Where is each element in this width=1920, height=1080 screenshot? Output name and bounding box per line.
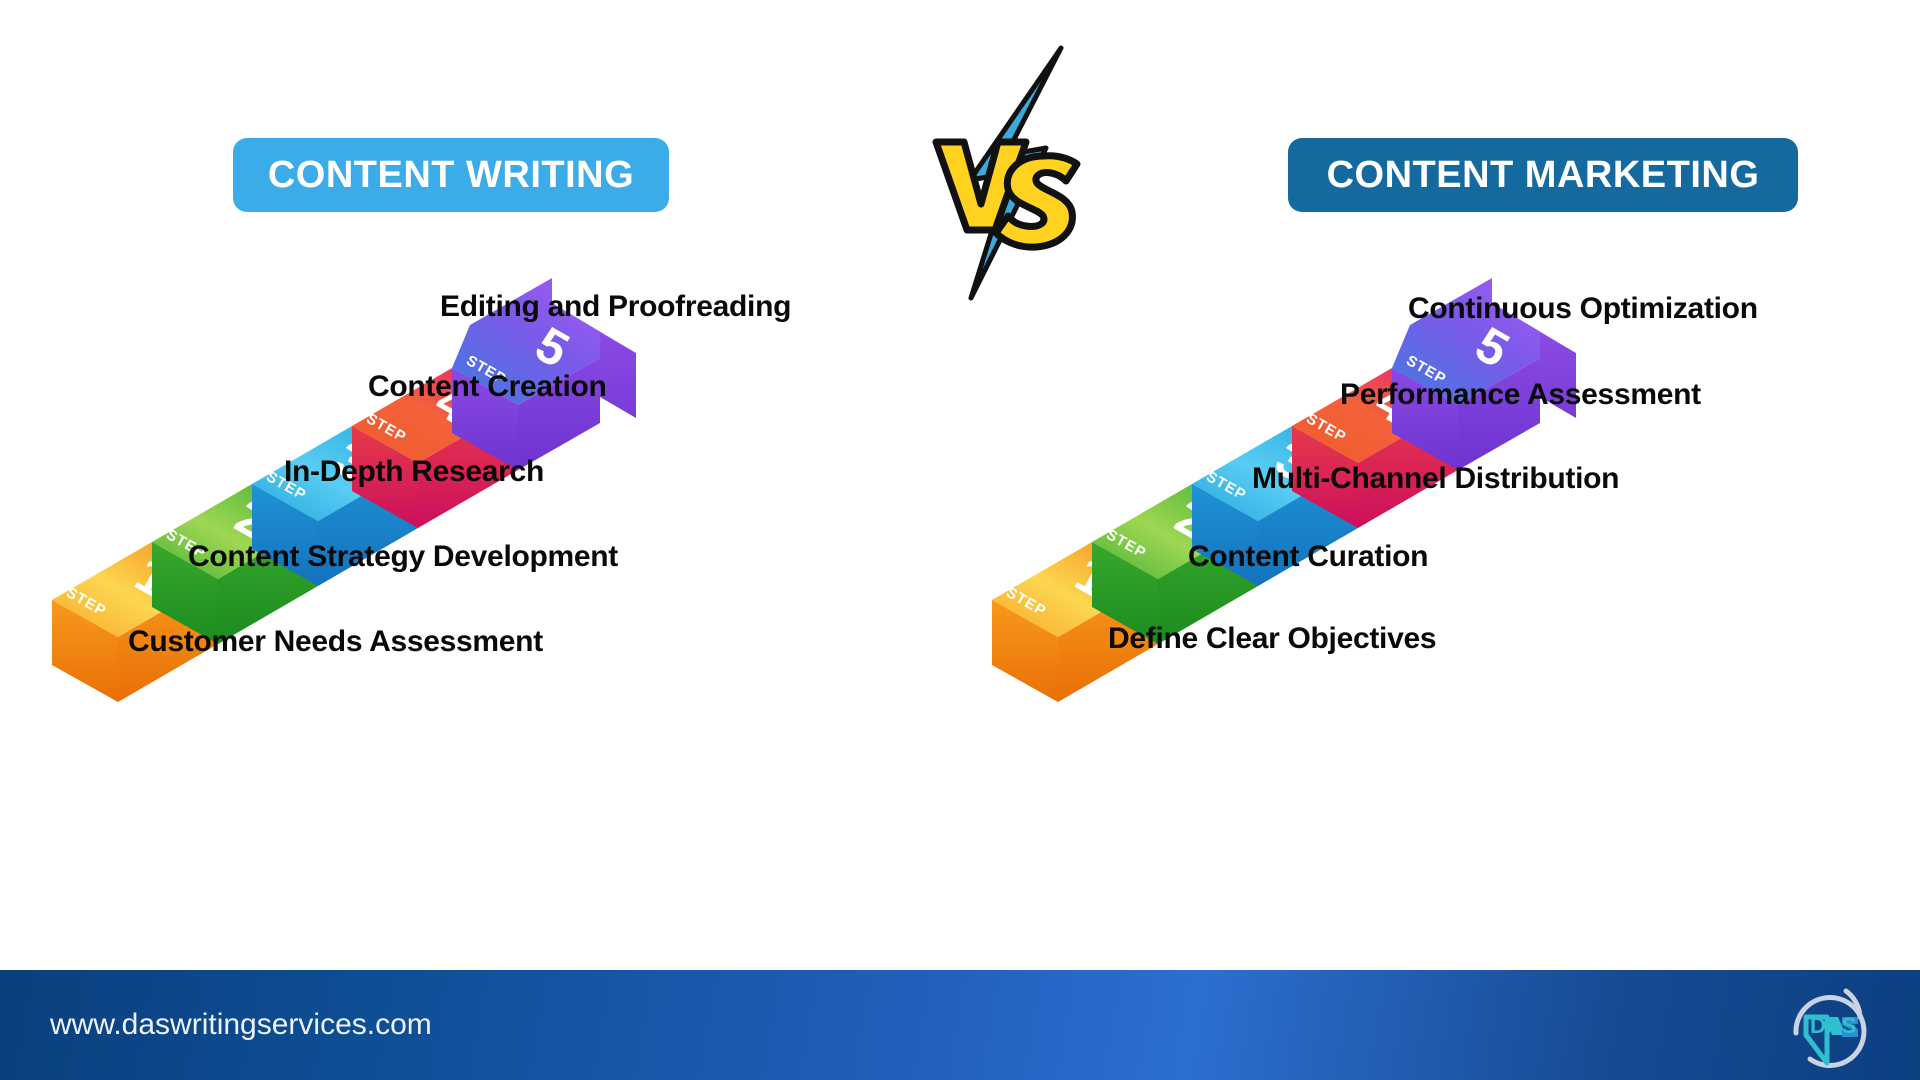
infographic-canvas: CONTENT WRITING CONTENT MARKETING: [0, 0, 1920, 1080]
footer-website-url[interactable]: www.daswritingservices.com: [50, 1008, 432, 1042]
das-logo: DAS: [1780, 977, 1876, 1073]
step-caption-3: In-Depth Research: [284, 455, 544, 489]
header-label-left: CONTENT WRITING: [268, 154, 634, 197]
step-caption-2: Content Strategy Development: [188, 540, 618, 574]
vs-badge: [918, 40, 1108, 305]
staircase-content-writing: STEP 1 STEP 2 STEP 3: [40, 270, 800, 840]
footer-bar: www.daswritingservices.com DAS: [0, 970, 1920, 1080]
step-caption-4: Performance Assessment: [1340, 378, 1701, 412]
step-caption-5: Editing and Proofreading: [440, 290, 791, 324]
staircase-content-marketing: STEP 1 STEP 2 STEP 3 STEP: [980, 270, 1740, 840]
header-label-right: CONTENT MARKETING: [1327, 154, 1760, 197]
header-pill-content-marketing: CONTENT MARKETING: [1288, 138, 1798, 212]
step-caption-5: Continuous Optimization: [1408, 292, 1758, 326]
step-caption-3: Multi-Channel Distribution: [1252, 462, 1619, 496]
das-logo-text: DAS: [1810, 1013, 1856, 1038]
step-caption-1: Define Clear Objectives: [1108, 622, 1436, 656]
step-caption-2: Content Curation: [1188, 540, 1428, 574]
header-pill-content-writing: CONTENT WRITING: [233, 138, 669, 212]
step-caption-1: Customer Needs Assessment: [128, 625, 543, 659]
step-caption-4: Content Creation: [368, 370, 607, 404]
